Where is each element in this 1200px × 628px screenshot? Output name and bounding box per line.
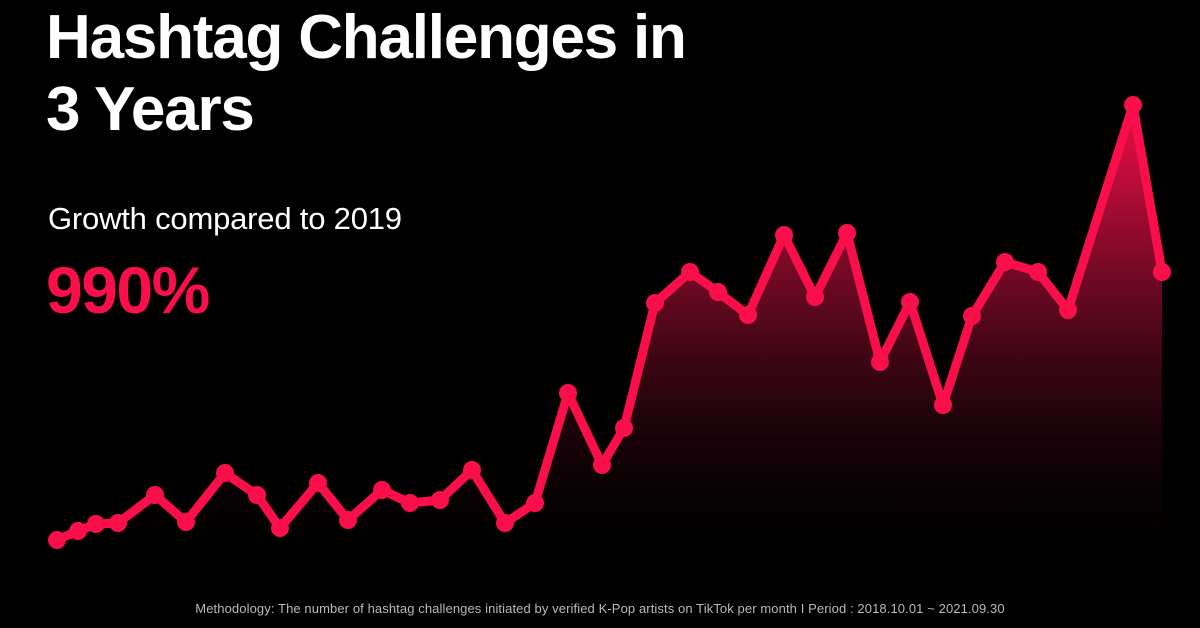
chart-data-point <box>401 494 419 512</box>
line-chart <box>0 0 1200 628</box>
chart-svg <box>0 0 1200 628</box>
chart-data-point <box>646 294 664 312</box>
chart-data-point <box>87 515 105 533</box>
chart-data-point <box>339 511 357 529</box>
chart-data-point <box>109 514 127 532</box>
chart-data-point <box>216 464 234 482</box>
chart-data-point <box>996 253 1014 271</box>
chart-data-point <box>615 419 633 437</box>
chart-data-point <box>901 293 919 311</box>
chart-data-point <box>871 353 889 371</box>
chart-data-point <box>681 263 699 281</box>
chart-data-point <box>806 288 824 306</box>
chart-data-point <box>593 456 611 474</box>
chart-data-point <box>709 283 727 301</box>
chart-data-point <box>934 396 952 414</box>
chart-area-fill <box>57 105 1162 572</box>
chart-data-point <box>271 519 289 537</box>
chart-data-point <box>248 486 266 504</box>
chart-data-point <box>838 224 856 242</box>
chart-data-point <box>775 226 793 244</box>
chart-data-point <box>1029 263 1047 281</box>
chart-data-point <box>69 522 87 540</box>
chart-data-point <box>463 461 481 479</box>
chart-data-point <box>309 474 327 492</box>
chart-data-point <box>496 514 514 532</box>
chart-data-point <box>1124 96 1142 114</box>
chart-data-point <box>48 531 66 549</box>
chart-data-point <box>526 494 544 512</box>
chart-data-point <box>739 306 757 324</box>
chart-data-point <box>373 481 391 499</box>
chart-data-point <box>1059 301 1077 319</box>
chart-data-point <box>431 491 449 509</box>
chart-data-point <box>559 384 577 402</box>
chart-data-point <box>146 486 164 504</box>
chart-data-point <box>177 513 195 531</box>
infographic-poster: Hashtag Challenges in 3 Years Growth com… <box>0 0 1200 628</box>
chart-data-point <box>1153 263 1171 281</box>
chart-data-point <box>963 307 981 325</box>
